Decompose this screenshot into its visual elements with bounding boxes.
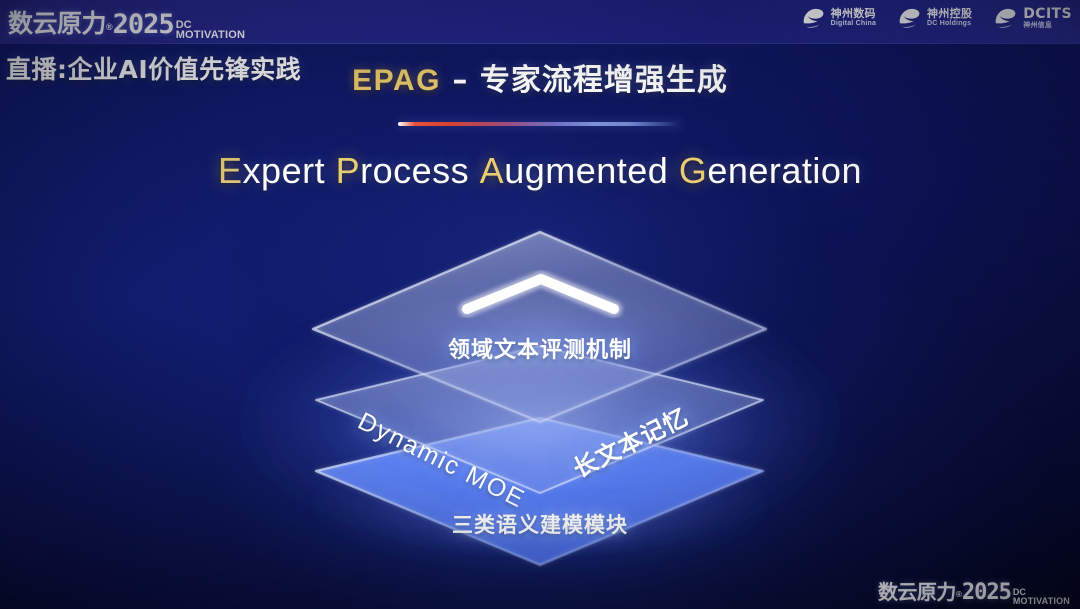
brand-motivation-text: MOTIVATION bbox=[1013, 597, 1070, 605]
footer-brand-logo: 数云原力®2025 DC MOTIVATION bbox=[878, 576, 1070, 605]
brand-name-cn: 数云原力 bbox=[878, 576, 956, 605]
brand-year: 2025 bbox=[962, 580, 1011, 605]
layered-architecture-diagram: 领域文本评测机制 Dynamic MOE 长文本记忆 三类语义建模模块 bbox=[0, 0, 1080, 609]
bottom-layer-label: 三类语义建模模块 bbox=[0, 509, 1080, 539]
top-layer-label: 领域文本评测机制 bbox=[0, 332, 1080, 364]
brand-registered-mark: ® bbox=[956, 590, 962, 599]
brand-dc-motivation: DC MOTIVATION bbox=[1013, 588, 1070, 605]
presentation-slide: 数云原力®2025 DC MOTIVATION 神州数码 Digital Chi… bbox=[0, 0, 1080, 609]
